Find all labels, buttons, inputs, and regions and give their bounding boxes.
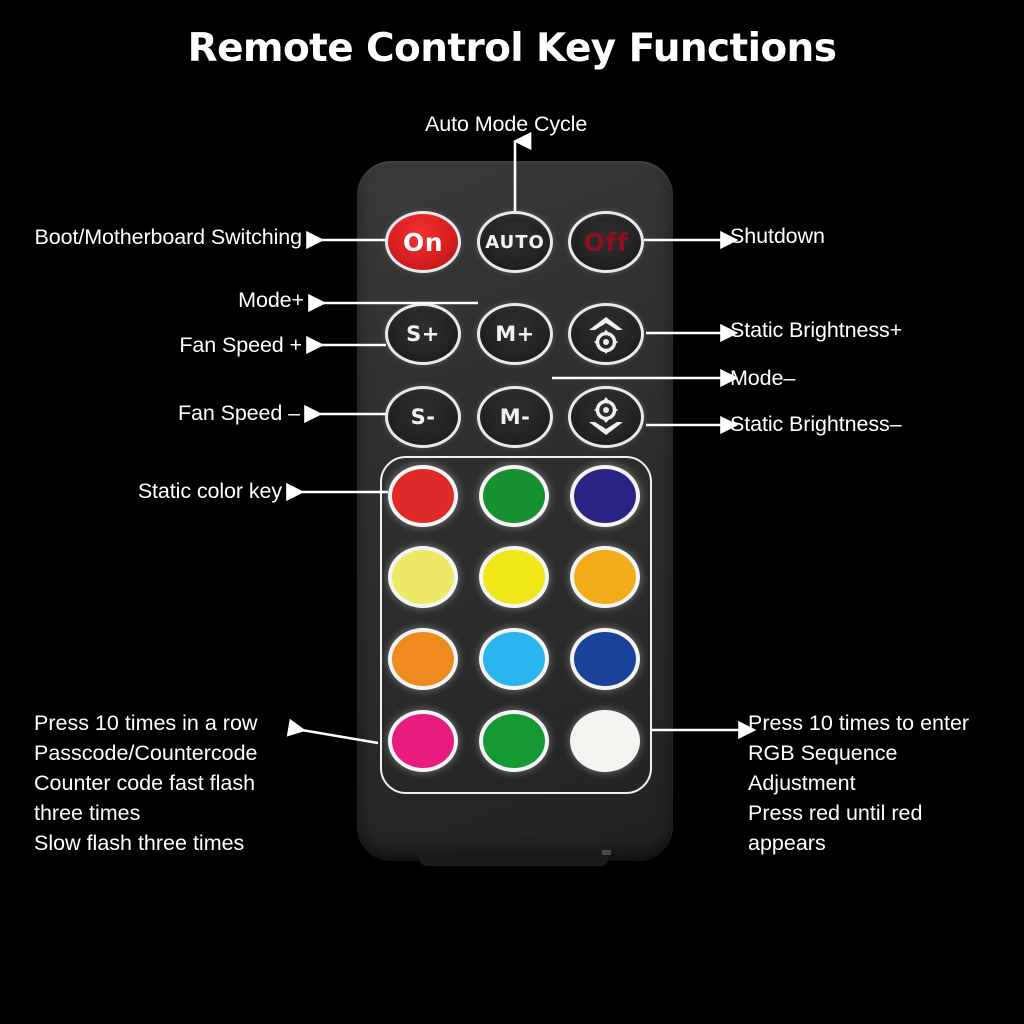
chevron-up-sun-icon <box>583 313 629 355</box>
callout-boot-motherboard: Boot/Motherboard Switching <box>35 225 303 250</box>
note-left-line-2: Passcode/Countercode <box>34 738 258 768</box>
callout-fan-speed-plus: Fan Speed + <box>179 333 302 358</box>
note-block-right: Press 10 times to enter RGB Sequence Adj… <box>748 708 969 858</box>
callout-fan-speed-minus: Fan Speed – <box>178 401 300 426</box>
diagram-canvas: Remote Control Key Functions On AUTO Off… <box>0 0 1024 1024</box>
chevron-down-sun-icon <box>583 396 629 438</box>
button-auto[interactable]: AUTO <box>477 211 553 273</box>
button-on[interactable]: On <box>385 211 461 273</box>
note-block-left: Press 10 times in a row Passcode/Counter… <box>34 708 258 858</box>
color-button-magenta[interactable] <box>388 710 458 772</box>
note-left-line-4: three times <box>34 798 258 828</box>
button-speed-down[interactable]: S- <box>385 386 461 448</box>
page-title: Remote Control Key Functions <box>0 26 1024 71</box>
note-right-line-4: Press red until red <box>748 798 969 828</box>
callout-mode-minus: Mode– <box>730 366 795 391</box>
color-button-white[interactable] <box>570 710 640 772</box>
note-right-line-2: RGB Sequence <box>748 738 969 768</box>
color-button-orange[interactable] <box>388 628 458 690</box>
button-off-label: Off <box>584 228 629 257</box>
callout-static-brightness-minus: Static Brightness– <box>730 412 901 437</box>
note-left-line-5: Slow flash three times <box>34 828 258 858</box>
button-brightness-up[interactable] <box>568 303 644 365</box>
button-mode-up-label: M+ <box>495 322 535 346</box>
button-speed-down-label: S- <box>411 405 436 429</box>
color-button-yellow[interactable] <box>479 546 549 608</box>
button-off[interactable]: Off <box>568 211 644 273</box>
color-button-green[interactable] <box>479 465 549 527</box>
color-button-dark-green[interactable] <box>479 710 549 772</box>
note-left-line-3: Counter code fast flash <box>34 768 258 798</box>
callout-static-brightness-plus: Static Brightness+ <box>730 318 902 343</box>
ir-emitter-icon <box>602 850 611 855</box>
callout-mode-plus: Mode+ <box>238 288 304 313</box>
note-right-line-1: Press 10 times to enter <box>748 708 969 738</box>
button-mode-up[interactable]: M+ <box>477 303 553 365</box>
callout-auto-mode-cycle: Auto Mode Cycle <box>425 112 587 137</box>
callout-shutdown: Shutdown <box>730 224 825 249</box>
button-on-label: On <box>403 228 443 257</box>
color-button-red[interactable] <box>388 465 458 527</box>
button-brightness-down[interactable] <box>568 386 644 448</box>
note-left-line-1: Press 10 times in a row <box>34 708 258 738</box>
button-mode-down[interactable]: M- <box>477 386 553 448</box>
color-button-cyan[interactable] <box>479 628 549 690</box>
color-button-pale-yellow[interactable] <box>388 546 458 608</box>
note-right-line-5: appears <box>748 828 969 858</box>
button-auto-label: AUTO <box>485 232 545 253</box>
remote-bottom-lip <box>419 854 609 866</box>
button-speed-up[interactable]: S+ <box>385 303 461 365</box>
color-button-amber[interactable] <box>570 546 640 608</box>
callout-static-color-key: Static color key <box>138 479 282 504</box>
button-speed-up-label: S+ <box>406 322 440 346</box>
button-mode-down-label: M- <box>500 405 531 429</box>
color-button-royal-blue[interactable] <box>570 628 640 690</box>
color-button-navy-blue[interactable] <box>570 465 640 527</box>
note-right-line-3: Adjustment <box>748 768 969 798</box>
